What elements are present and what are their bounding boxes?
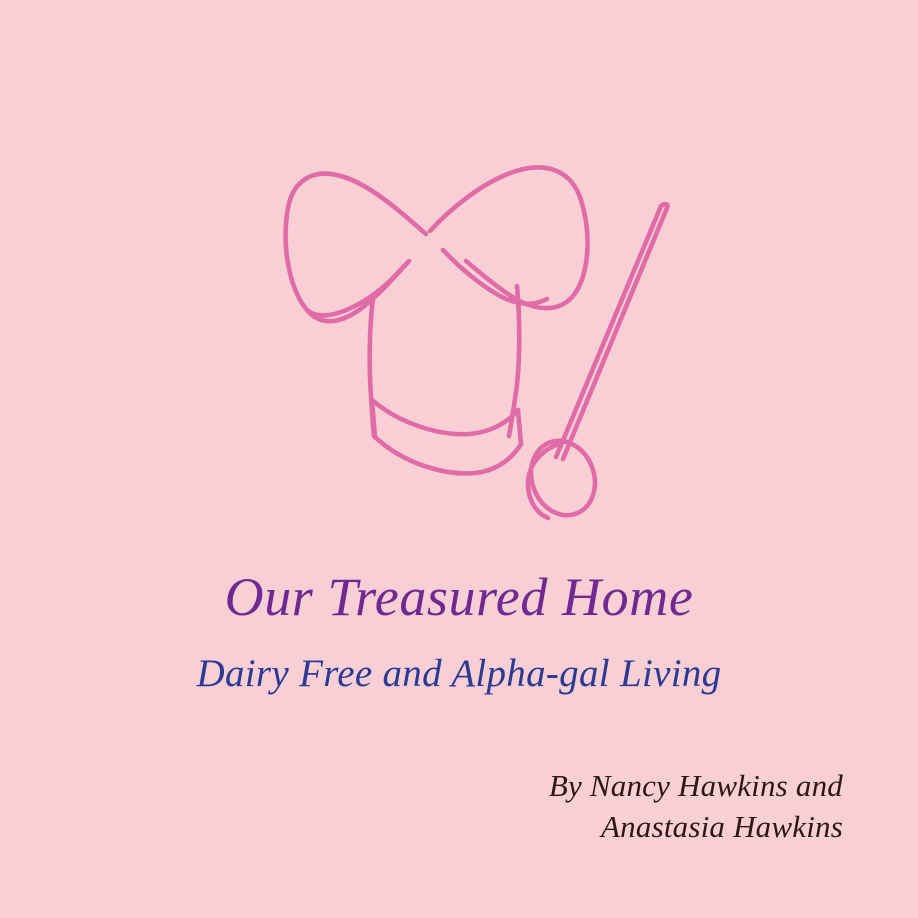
spoon-bowl-inner-icon	[528, 443, 562, 518]
book-cover: Our Treasured Home Dairy Free and Alpha-…	[0, 0, 918, 918]
spoon-handle-outer-icon	[563, 208, 667, 459]
page-subtitle: Dairy Free and Alpha-gal Living	[0, 651, 918, 697]
spoon-bowl-icon	[521, 432, 605, 525]
cover-text-block: Our Treasured Home Dairy Free and Alpha-…	[0, 565, 918, 697]
author-line-2: Anastasia Hawkins	[549, 806, 843, 847]
chef-hat-right-puff-inner-icon	[443, 250, 547, 304]
author-line-1: By Nancy Hawkins and	[549, 765, 843, 806]
chef-hat-left-body-icon	[370, 298, 374, 436]
chef-hat-right-puff-icon	[430, 167, 588, 308]
page-title: Our Treasured Home	[0, 565, 918, 629]
author-credit: By Nancy Hawkins and Anastasia Hawkins	[549, 765, 843, 847]
chef-hat-right-body-icon	[509, 286, 519, 436]
spoon-handle-inner-icon	[556, 206, 661, 457]
chef-hat-left-puff-icon	[286, 174, 426, 322]
chef-hat-left-puff-inner-icon	[307, 266, 404, 315]
spoon-handle-cap-icon	[661, 204, 668, 208]
chef-hat-band-left-edge-icon	[372, 400, 375, 437]
chef-hat-band-bottom-icon	[375, 437, 521, 473]
chef-hat-band-right-edge-icon	[518, 410, 521, 444]
chef-hat-band-top-icon	[372, 400, 518, 434]
